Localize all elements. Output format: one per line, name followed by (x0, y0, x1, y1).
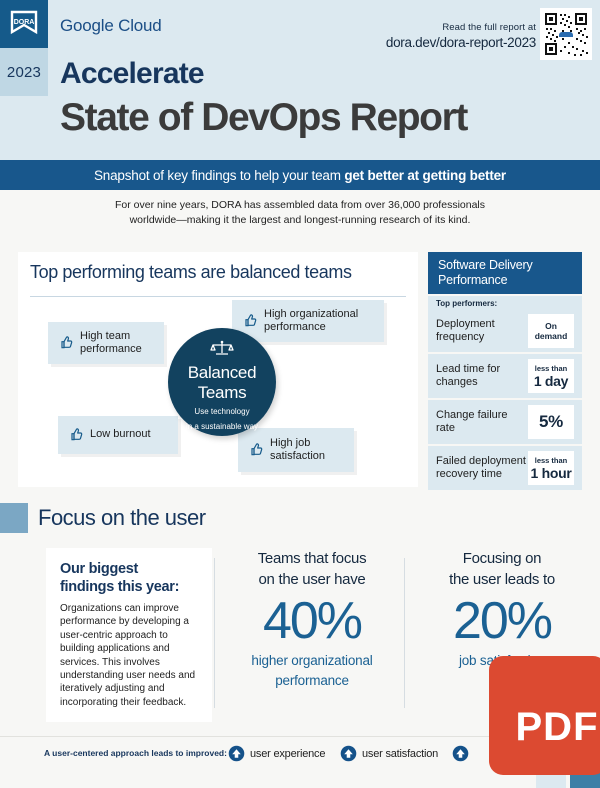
tagline-text: Snapshot of key findings to help your te… (94, 168, 506, 183)
balanced-teams-circle: Balanced Teams Use technology in a susta… (168, 328, 276, 436)
sdp-row-value: On demand (528, 314, 574, 348)
chip-low-burnout: Low burnout (58, 416, 178, 454)
intro-line-2: worldwide—making it the largest and long… (0, 213, 600, 228)
focus-section-title: Focus on the user (38, 505, 206, 531)
footer-item-user-experience: user experience (228, 745, 325, 762)
arrow-up-circle-icon (340, 745, 357, 762)
sdp-value-bottom: demand (535, 331, 568, 341)
findings-card: Our biggest findings this year: Organiza… (46, 548, 212, 722)
stat-pre-2: on the user have (224, 569, 400, 590)
chip-high-organizational-performance: High organizational performance (232, 300, 384, 342)
intro-line-1: For over nine years, DORA has assembled … (0, 198, 600, 213)
sdp-row-deployment-frequency: Top performers: Deployment frequency On … (428, 296, 582, 352)
sdp-value-bottom: 1 hour (531, 465, 572, 481)
thumbs-up-icon (248, 442, 264, 458)
sdp-row-value: less than 1 hour (528, 451, 574, 485)
sdp-row-change-failure-rate: Change failure rate 5% (428, 400, 582, 444)
infographic-page: DORA 2023 Google Cloud Read the full rep… (0, 0, 600, 788)
circle-subtitle-line-2: in a sustainable way (168, 422, 276, 432)
stat-pre-1: Focusing on (414, 548, 590, 569)
sdp-value-bottom: 1 day (534, 373, 568, 389)
stat-post-2: performance (224, 672, 400, 690)
report-url[interactable]: dora.dev/dora-report-2023 (386, 35, 536, 50)
circle-title-line-1: Balanced (168, 363, 276, 382)
sdp-row-name: Failed deployment recovery time (436, 455, 528, 481)
chip-label: High organizational performance (264, 308, 374, 335)
thumbs-up-icon (58, 335, 74, 351)
chip-label: High team performance (80, 330, 154, 357)
stat-organizational-performance: Teams that focus on the user have 40% hi… (224, 548, 400, 690)
card-divider (404, 558, 405, 708)
dora-logo: DORA (0, 0, 48, 48)
stat-post-1: higher organizational (224, 652, 400, 670)
stat-pre-1: Teams that focus (224, 548, 400, 569)
sdp-title: Software Delivery Performance (428, 252, 582, 294)
sdp-value-bottom: 5% (539, 414, 563, 430)
findings-heading-2: findings this year: (60, 578, 200, 596)
circle-subtitle-line-1: Use technology (168, 407, 276, 417)
sdp-value-top: less than (535, 364, 568, 373)
chip-label: Low burnout (90, 428, 151, 442)
section-marker-square (0, 503, 28, 533)
google-cloud-wordmark: Google Cloud (60, 16, 162, 36)
header: DORA 2023 Google Cloud Read the full rep… (0, 0, 600, 160)
sdp-row-value: 5% (528, 405, 574, 439)
sdp-value-top: On (545, 321, 557, 331)
sdp-row-recovery-time: Failed deployment recovery time less tha… (428, 446, 582, 490)
chip-high-job-satisfaction: High job satisfaction (238, 428, 354, 472)
read-report-block: Read the full report at dora.dev/dora-re… (386, 22, 536, 50)
sdp-row-lead-time: Lead time for changes less than 1 day (428, 354, 582, 398)
footer-item-third (452, 745, 474, 762)
pdf-badge[interactable]: PDF (489, 656, 600, 775)
footer-item-user-satisfaction: user satisfaction (340, 745, 438, 762)
dora-banner-icon: DORA (7, 7, 41, 41)
stat-number: 20% (414, 592, 590, 650)
svg-text:DORA: DORA (14, 19, 35, 26)
accelerate-title: Accelerate (60, 57, 204, 91)
tagline-strip: Snapshot of key findings to help your te… (0, 160, 600, 190)
pdf-badge-label: PDF (516, 705, 599, 750)
top-performers-label: Top performers: (436, 299, 497, 308)
tagline-bold: get better at getting better (344, 168, 506, 183)
footer-item-label: user experience (250, 748, 325, 760)
read-report-label: Read the full report at (386, 22, 536, 33)
card-divider (214, 558, 215, 708)
findings-heading-1: Our biggest (60, 560, 200, 578)
chip-label: High job satisfaction (270, 437, 344, 464)
footer-lead-text: A user-centered approach leads to improv… (44, 748, 227, 758)
sdp-row-name: Change failure rate (436, 409, 528, 435)
stat-job-satisfaction: Focusing on the user leads to 20% job sa… (414, 548, 590, 670)
tagline-normal: Snapshot of key findings to help your te… (94, 168, 344, 183)
title-divider (30, 296, 406, 297)
sdp-value-top: less than (535, 456, 568, 465)
intro-paragraph: For over nine years, DORA has assembled … (0, 198, 600, 228)
sdp-row-value: less than 1 day (528, 359, 574, 393)
software-delivery-performance-panel: Software Delivery Performance Top perfor… (428, 252, 582, 487)
stat-number: 40% (224, 592, 400, 650)
circle-title-line-2: Teams (168, 383, 276, 402)
arrow-up-circle-icon (452, 745, 469, 762)
year-badge: 2023 (0, 48, 48, 96)
thumbs-up-icon (242, 313, 258, 329)
findings-body: Organizations can improve performance by… (60, 602, 200, 709)
sdp-row-name: Deployment frequency (436, 318, 528, 344)
sdp-row-name: Lead time for changes (436, 363, 528, 389)
page-title: State of DevOps Report (60, 96, 467, 140)
qr-code-icon[interactable] (540, 8, 592, 60)
footer-item-label: user satisfaction (362, 748, 438, 760)
scales-icon (168, 339, 276, 362)
balanced-teams-title: Top performing teams are balanced teams (30, 262, 352, 283)
thumbs-up-icon (68, 427, 84, 443)
arrow-up-circle-icon (228, 745, 245, 762)
chip-high-team-performance: High team performance (48, 322, 164, 364)
stat-pre-2: the user leads to (414, 569, 590, 590)
